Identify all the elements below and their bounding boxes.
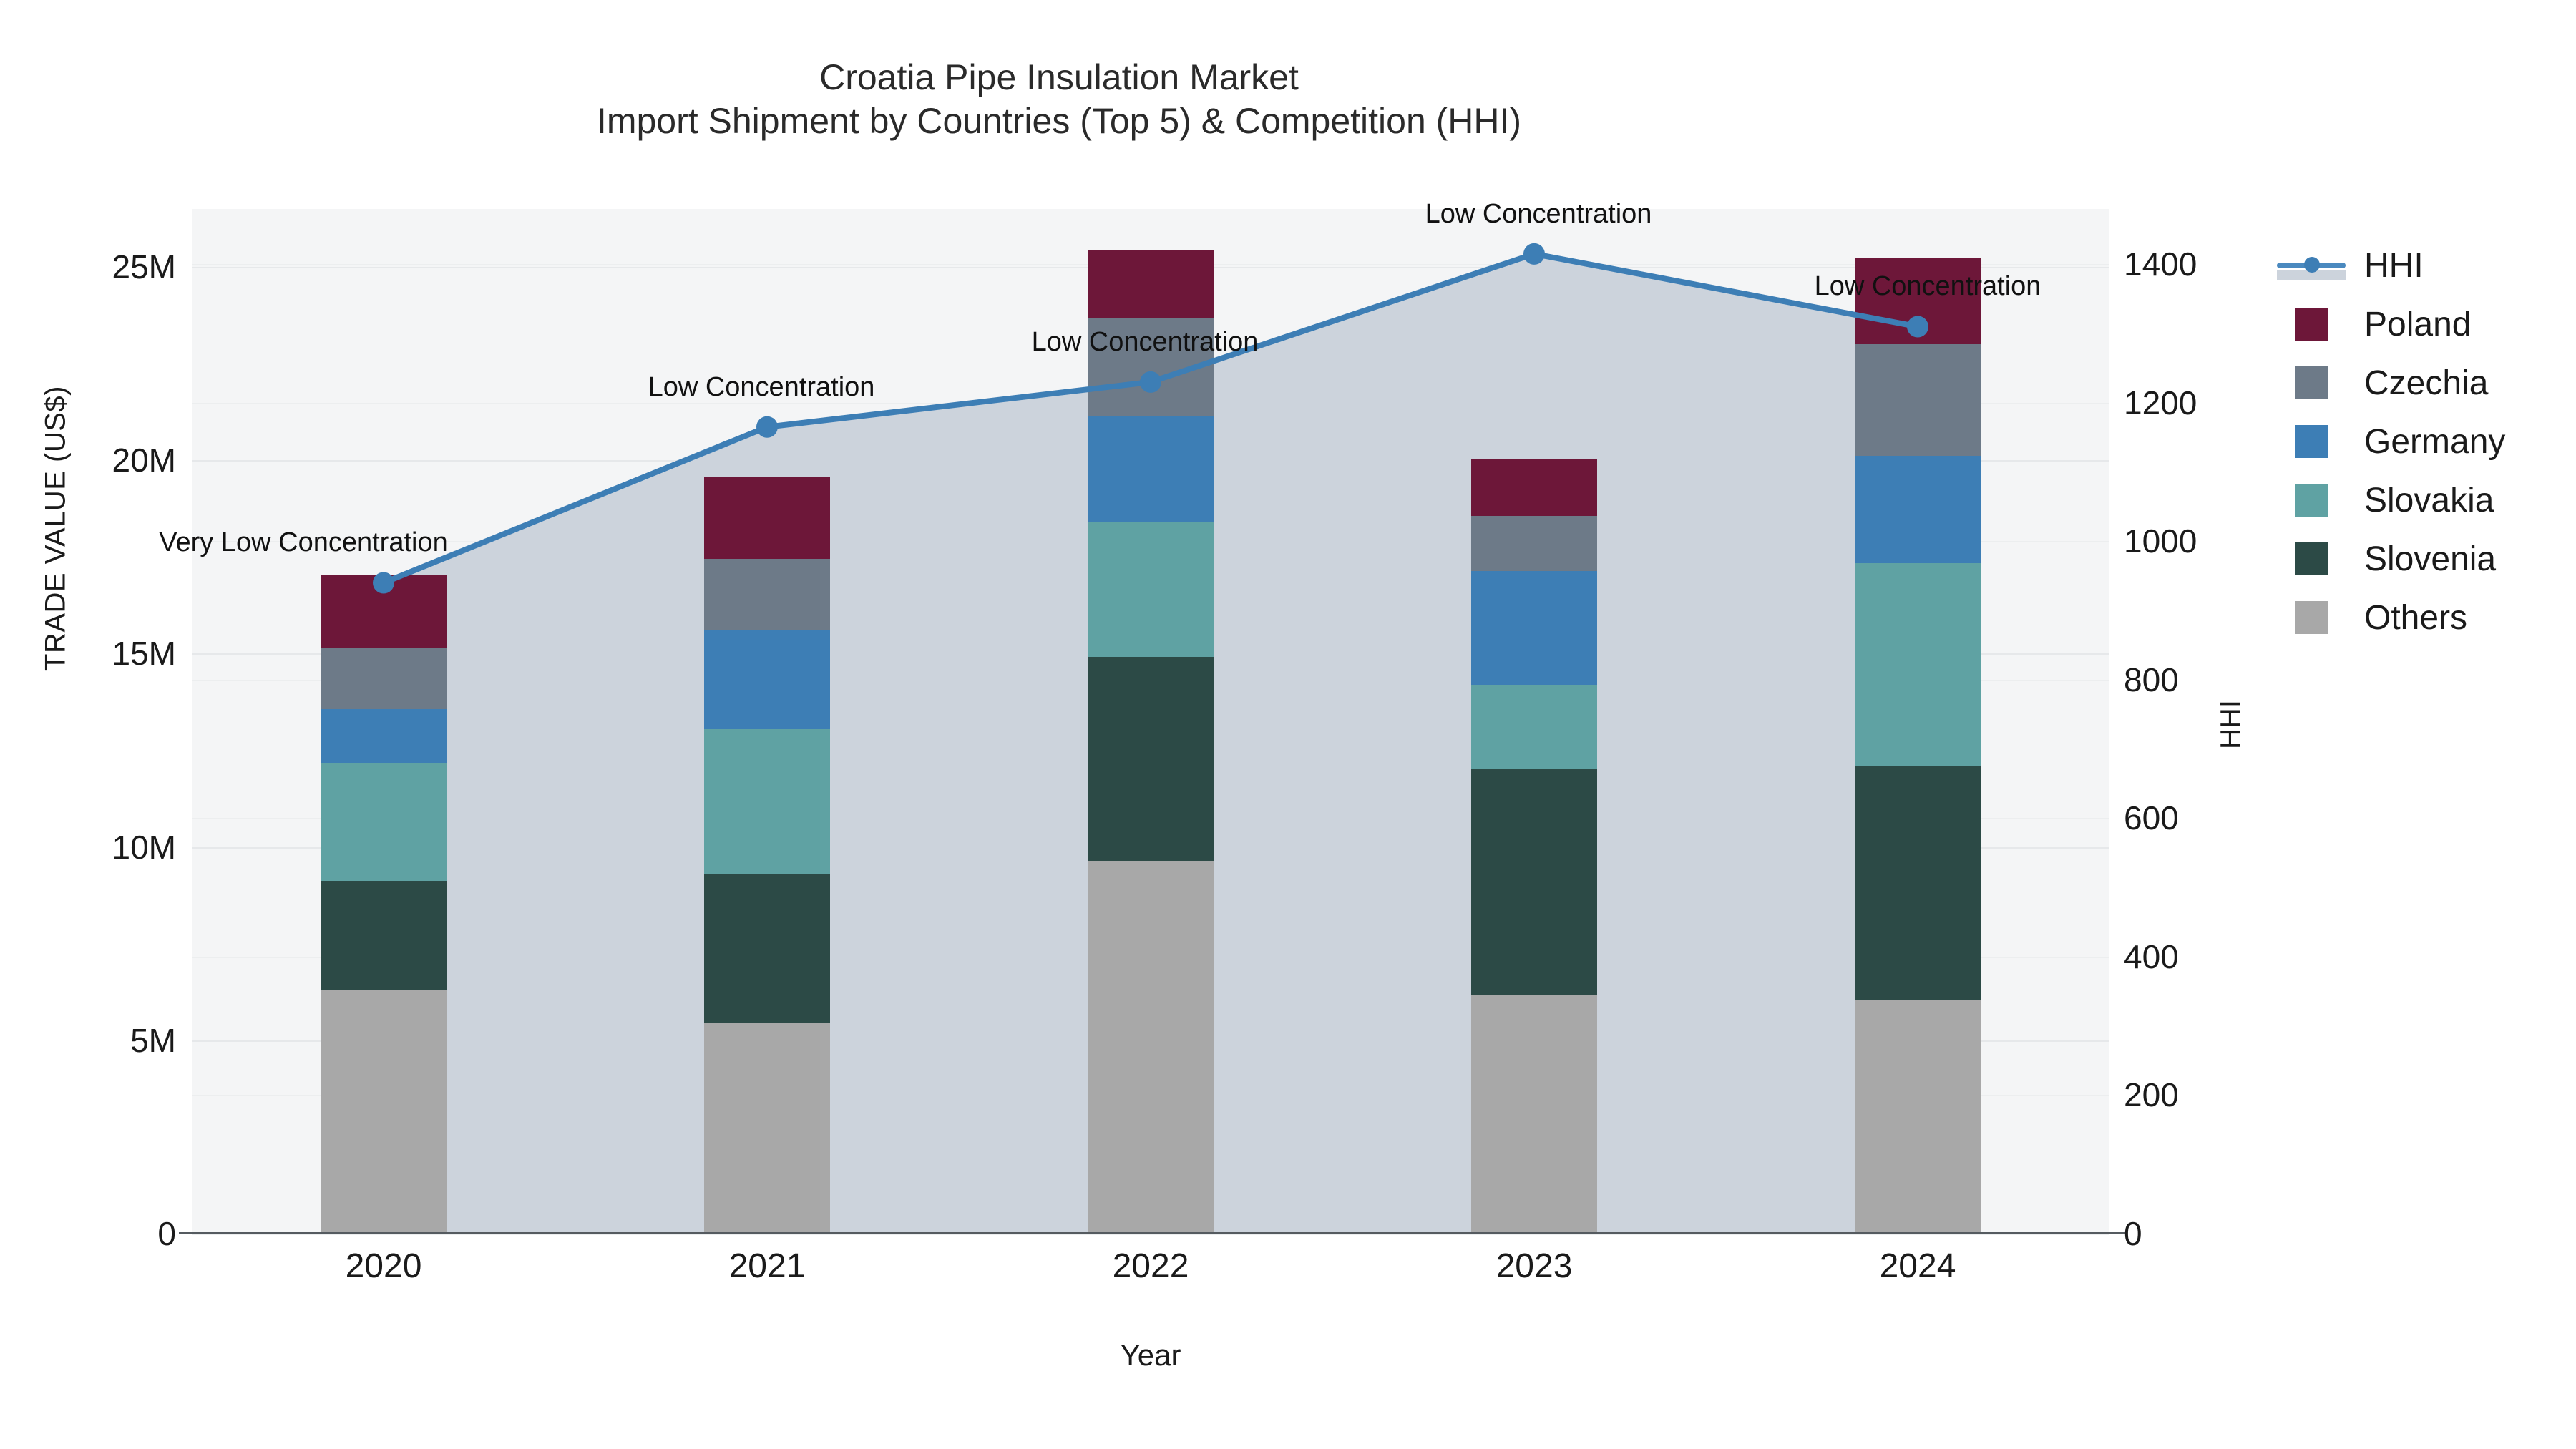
y2-tick-200: 200: [2109, 1075, 2288, 1114]
x-tick-2023: 2023: [1405, 1246, 1663, 1286]
legend-item-label: Slovenia: [2364, 540, 2496, 579]
y-tick-10M: 10M: [13, 828, 192, 867]
chart-title: Croatia Pipe Insulation Market Import Sh…: [0, 56, 2118, 143]
x-axis-label: Year: [192, 1338, 2109, 1372]
y-tick-5M: 5M: [13, 1021, 192, 1060]
y-axis-label: TRADE VALUE (US$): [40, 278, 72, 779]
chart-title-line1: Croatia Pipe Insulation Market: [819, 57, 1299, 97]
annotation-2023: Low Concentration: [1425, 199, 1652, 230]
legend-item-label: HHI: [2364, 246, 2424, 286]
legend-item-germany[interactable]: Germany: [2277, 412, 2505, 471]
legend-item-slovakia[interactable]: Slovakia: [2277, 471, 2505, 530]
legend-item-label: Czechia: [2364, 364, 2488, 403]
legend-color-swatch: [2295, 308, 2328, 341]
legend-dot-icon: [2304, 257, 2320, 273]
legend-color-swatch: [2295, 425, 2328, 458]
legend-color-swatch: [2295, 484, 2328, 517]
y2-tick-0: 0: [2109, 1214, 2288, 1253]
y2-tick-1200: 1200: [2109, 384, 2288, 422]
legend-item-czechia[interactable]: Czechia: [2277, 353, 2505, 412]
chart-subtitle: Import Shipment by Countries (Top 5) & C…: [0, 99, 2118, 143]
annotation-2021: Low Concentration: [648, 372, 875, 403]
y2-tick-600: 600: [2109, 799, 2288, 837]
legend-item-label: Others: [2364, 598, 2467, 638]
x-tick-2021: 2021: [638, 1246, 896, 1286]
annotation-2020: Very Low Concentration: [159, 527, 447, 558]
legend-item-label: Slovakia: [2364, 481, 2494, 520]
legend-swatch-icon: [2277, 542, 2346, 575]
legend-swatch-icon: [2277, 308, 2346, 341]
legend-swatch-icon: [2277, 601, 2346, 634]
x-tick-2022: 2022: [1022, 1246, 1279, 1286]
y2-tick-400: 400: [2109, 937, 2288, 976]
chart-legend: HHIPolandCzechiaGermanySlovakiaSloveniaO…: [2277, 236, 2505, 647]
x-tick-2024: 2024: [1789, 1246, 2046, 1286]
y-tick-0: 0: [13, 1214, 192, 1253]
annotation-2024: Low Concentration: [1815, 271, 2041, 302]
legend-item-label: Germany: [2364, 422, 2505, 462]
concentration-annotations: Very Low ConcentrationLow ConcentrationL…: [192, 209, 2109, 1234]
legend-swatch-icon: [2277, 484, 2346, 517]
legend-item-slovenia[interactable]: Slovenia: [2277, 530, 2505, 588]
legend-swatch-icon: [2277, 366, 2346, 399]
y2-tick-800: 800: [2109, 660, 2288, 699]
legend-item-hhi[interactable]: HHI: [2277, 236, 2505, 295]
y2-tick-1000: 1000: [2109, 522, 2288, 560]
legend-color-swatch: [2295, 366, 2328, 399]
x-tick-2020: 2020: [255, 1246, 512, 1286]
chart-figure: Croatia Pipe Insulation Market Import Sh…: [0, 0, 2576, 1449]
legend-color-swatch: [2295, 542, 2328, 575]
legend-item-poland[interactable]: Poland: [2277, 295, 2505, 353]
x-axis-line: [179, 1232, 2125, 1234]
legend-color-swatch: [2295, 601, 2328, 634]
annotation-2022: Low Concentration: [1032, 327, 1259, 358]
y2-axis-label: HHI: [2215, 653, 2248, 796]
legend-item-label: Poland: [2364, 305, 2471, 344]
legend-line-marker-icon: [2277, 249, 2346, 282]
legend-swatch-icon: [2277, 425, 2346, 458]
legend-item-others[interactable]: Others: [2277, 588, 2505, 647]
y2-tick-1400: 1400: [2109, 245, 2288, 283]
